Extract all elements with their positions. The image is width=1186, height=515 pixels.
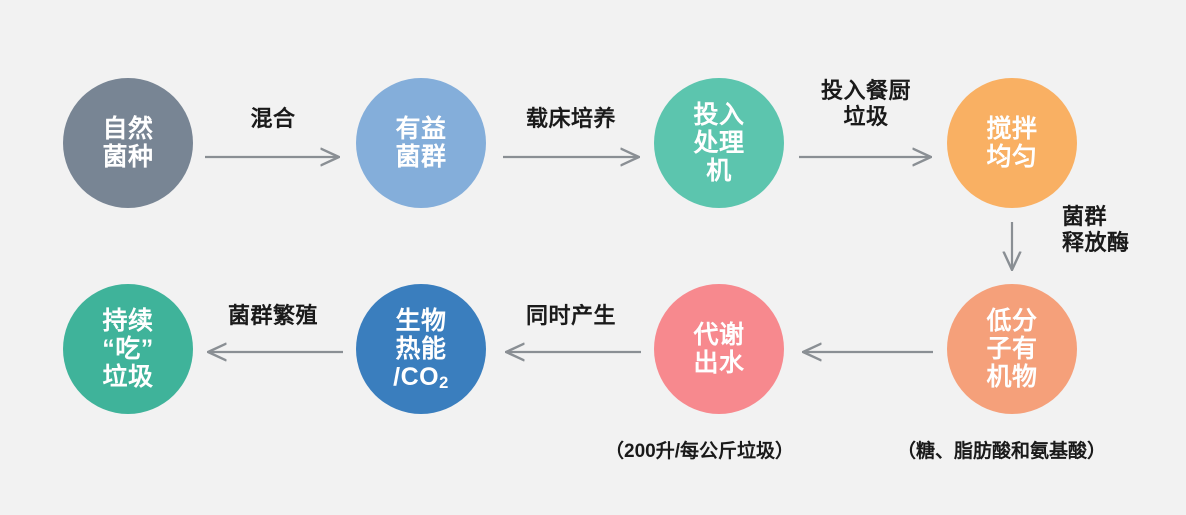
node-metabolic-water[interactable]: 代谢 出水 [654,284,784,414]
edge-label-simultaneous: 同时产生 [492,303,650,329]
node-low-molecule-organic[interactable]: 低分 子有 机物 [947,284,1077,414]
node-into-processor[interactable]: 投入 处理 机 [654,78,784,208]
caption-organic-detail: （糖、脂肪酸和氨基酸） [897,436,1106,463]
node-label-natural-strain: 自然 菌种 [102,115,153,171]
node-label-bio-heat-co2-subscript: 2 [439,374,449,392]
node-stir-evenly[interactable]: 搅拌 均匀 [947,78,1077,208]
edge-label-add-food-waste: 投入餐厨 垃圾 [790,78,942,131]
node-keep-eating-waste[interactable]: 持续 “吃” 垃圾 [63,284,193,414]
node-label-into-processor: 投入 处理 机 [693,101,744,185]
node-natural-strain[interactable]: 自然 菌种 [63,78,193,208]
node-label-bio-heat-co2: 生物 热能 /CO2 [393,307,449,391]
edge-label-mix: 混合 [199,106,347,132]
node-label-beneficial-flora: 有益 菌群 [395,115,446,171]
node-label-metabolic-water: 代谢 出水 [693,321,744,377]
edge-label-enzyme-release: 菌群 释放酶 [1062,204,1180,257]
node-beneficial-flora[interactable]: 有益 菌群 [356,78,486,208]
node-bio-heat-co2[interactable]: 生物 热能 /CO2 [356,284,486,414]
edge-label-flora-multiply: 菌群繁殖 [199,303,347,329]
caption-water-yield: （200升/每公斤垃圾） [605,436,794,463]
node-label-low-molecule-organic: 低分 子有 机物 [986,307,1037,391]
node-label-stir-evenly: 搅拌 均匀 [986,115,1037,171]
node-label-keep-eating-waste: 持续 “吃” 垃圾 [102,307,154,391]
edge-label-bed-culture: 载床培养 [492,106,650,132]
diagram-canvas: 自然 菌种 有益 菌群 投入 处理 机 搅拌 均匀 低分 子有 机物 代谢 出水… [0,0,1186,515]
